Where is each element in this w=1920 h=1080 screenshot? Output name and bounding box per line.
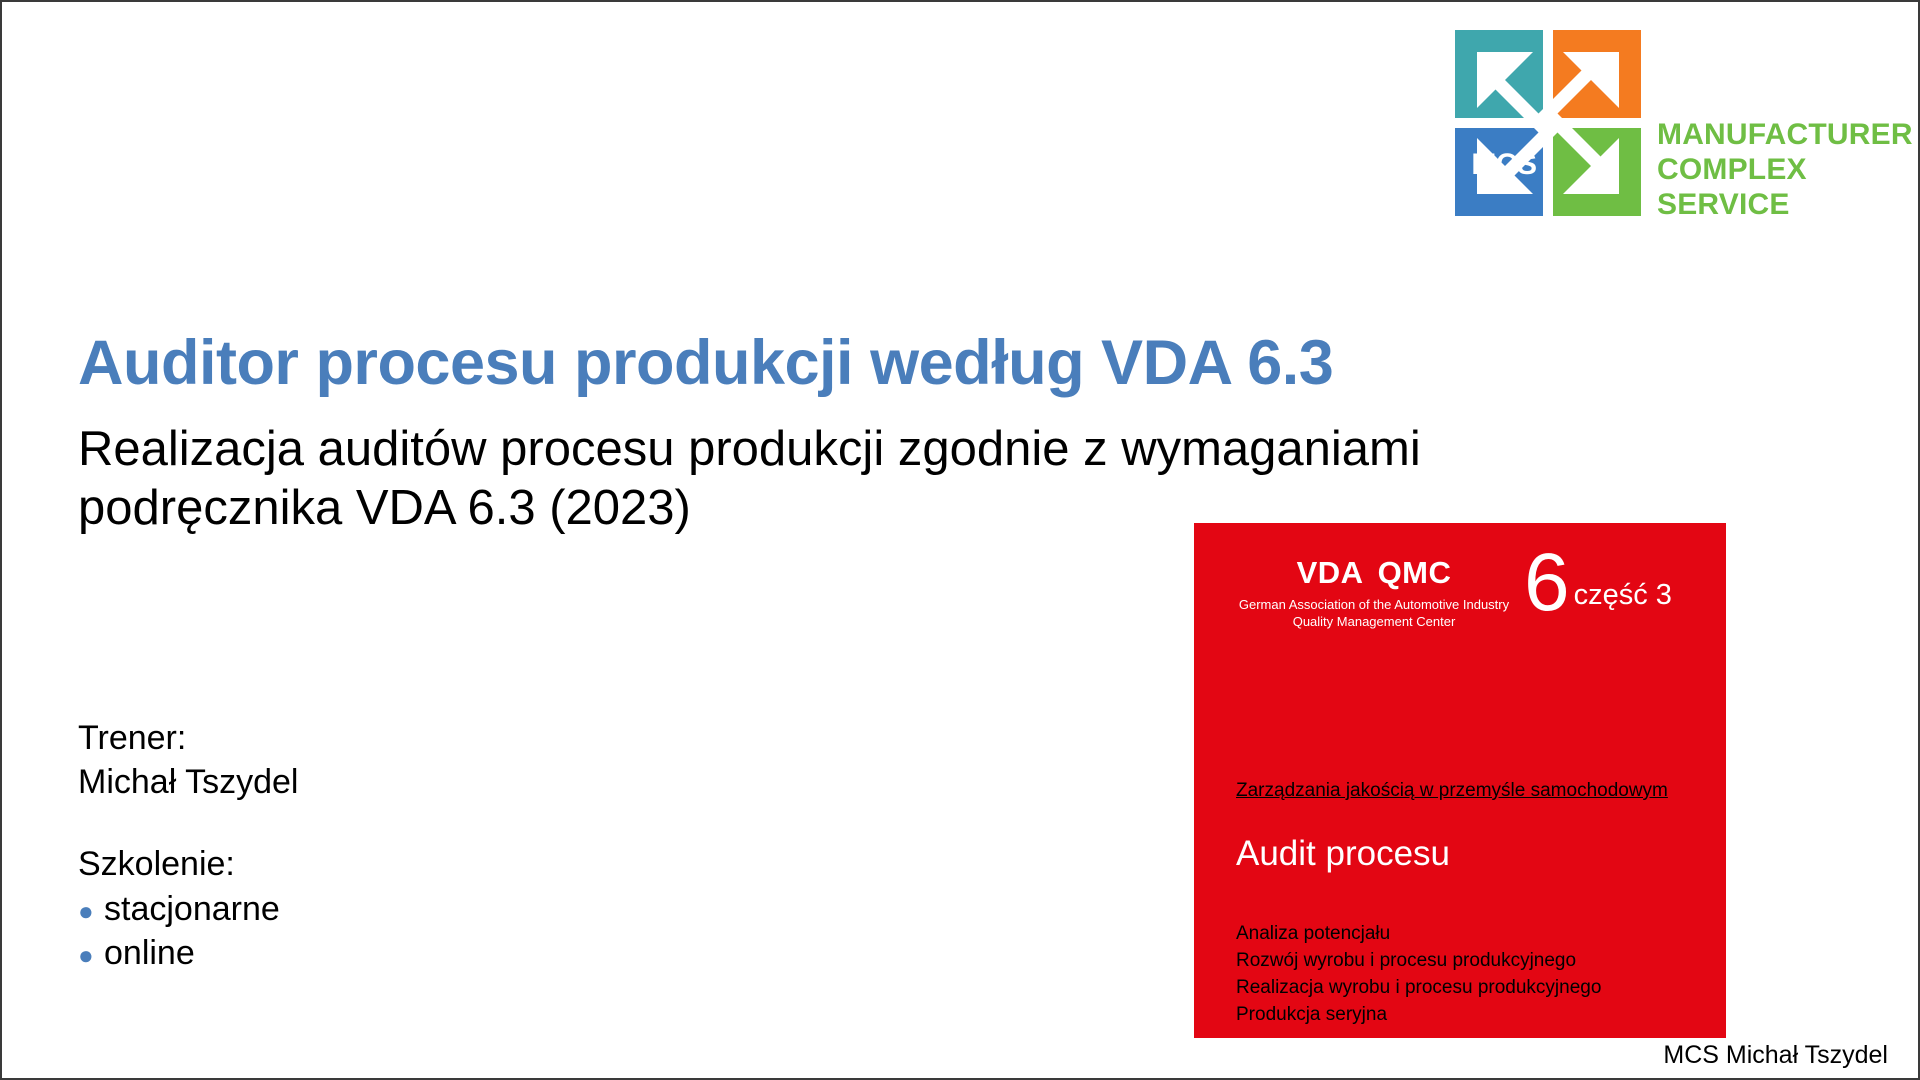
trainer-and-training-info: Trener: Michał Tszydel Szkolenie: ● stac… [78,716,698,975]
mcs-logo: MCS MANUFACTURER COMPLEX SERVICE [1455,30,1895,220]
vda-topic-item: Realizacja wyrobu i procesu produkcyjneg… [1236,975,1601,1002]
trainer-name: Michał Tszydel [78,760,698,804]
vda-brand-subtitle-line1: German Association of the Automotive Ind… [1224,597,1524,614]
training-option-label: stacjonarne [104,887,280,931]
slide-subtitle: Realizacja auditów procesu produkcji zgo… [78,420,1858,538]
training-option-online: ● online [78,931,698,975]
training-option-stacjonarne: ● stacjonarne [78,887,698,931]
vda-volume-marker: 6 część 3 [1524,547,1672,619]
vda-volume-number: 6 [1524,547,1570,619]
info-spacer [78,804,698,842]
vda-text: VDA [1297,555,1364,590]
bullet-dot-icon: ● [78,895,104,929]
vda-volume-part: część 3 [1574,579,1672,612]
four-arrows-icon [1455,30,1641,216]
training-label: Szkolenie: [78,842,698,886]
vda-cover-heading: Audit procesu [1236,834,1450,874]
vda-cover-header: VDAQMC German Association of the Automot… [1194,523,1726,653]
qmc-text: QMC [1378,555,1452,590]
logo-mcs-text: MCS [1463,150,1545,180]
vda-qmc-brand: VDAQMC German Association of the Automot… [1224,557,1524,631]
vda-topic-item: Rozwój wyrobu i procesu produkcyjnego [1236,948,1601,975]
presentation-slide: MCS MANUFACTURER COMPLEX SERVICE Auditor… [0,0,1920,1080]
vda-cover-topics: Analiza potencjału Rozwój wyrobu i proce… [1236,921,1601,1029]
vda-cover-underlined-subject: Zarządzania jakością w przemyśle samocho… [1236,780,1668,802]
mcs-logo-mark: MCS [1455,30,1641,216]
vda-brand-subtitle-line2: Quality Management Center [1224,614,1524,631]
slide-footer: MCS Michał Tszydel [1663,1041,1888,1070]
logo-word-manufacturer: MANUFACTURER [1657,118,1913,153]
vda-brand-subtitle: German Association of the Automotive Ind… [1224,597,1524,631]
bullet-dot-icon: ● [78,939,104,973]
logo-word-complex: COMPLEX [1657,153,1913,188]
vda-qmc-wordmark: VDAQMC [1224,557,1524,588]
trainer-label: Trener: [78,716,698,760]
slide-title: Auditor procesu produkcji według VDA 6.3 [78,330,1868,397]
logo-wordmark: MANUFACTURER COMPLEX SERVICE [1657,118,1913,222]
vda-book-cover: VDAQMC German Association of the Automot… [1194,523,1726,1038]
slide-subtitle-line1: Realizacja auditów procesu produkcji zgo… [78,422,1421,476]
training-option-label: online [104,931,195,975]
vda-topic-item: Produkcja seryjna [1236,1002,1601,1029]
logo-word-service: SERVICE [1657,188,1913,223]
vda-topic-item: Analiza potencjału [1236,921,1601,948]
